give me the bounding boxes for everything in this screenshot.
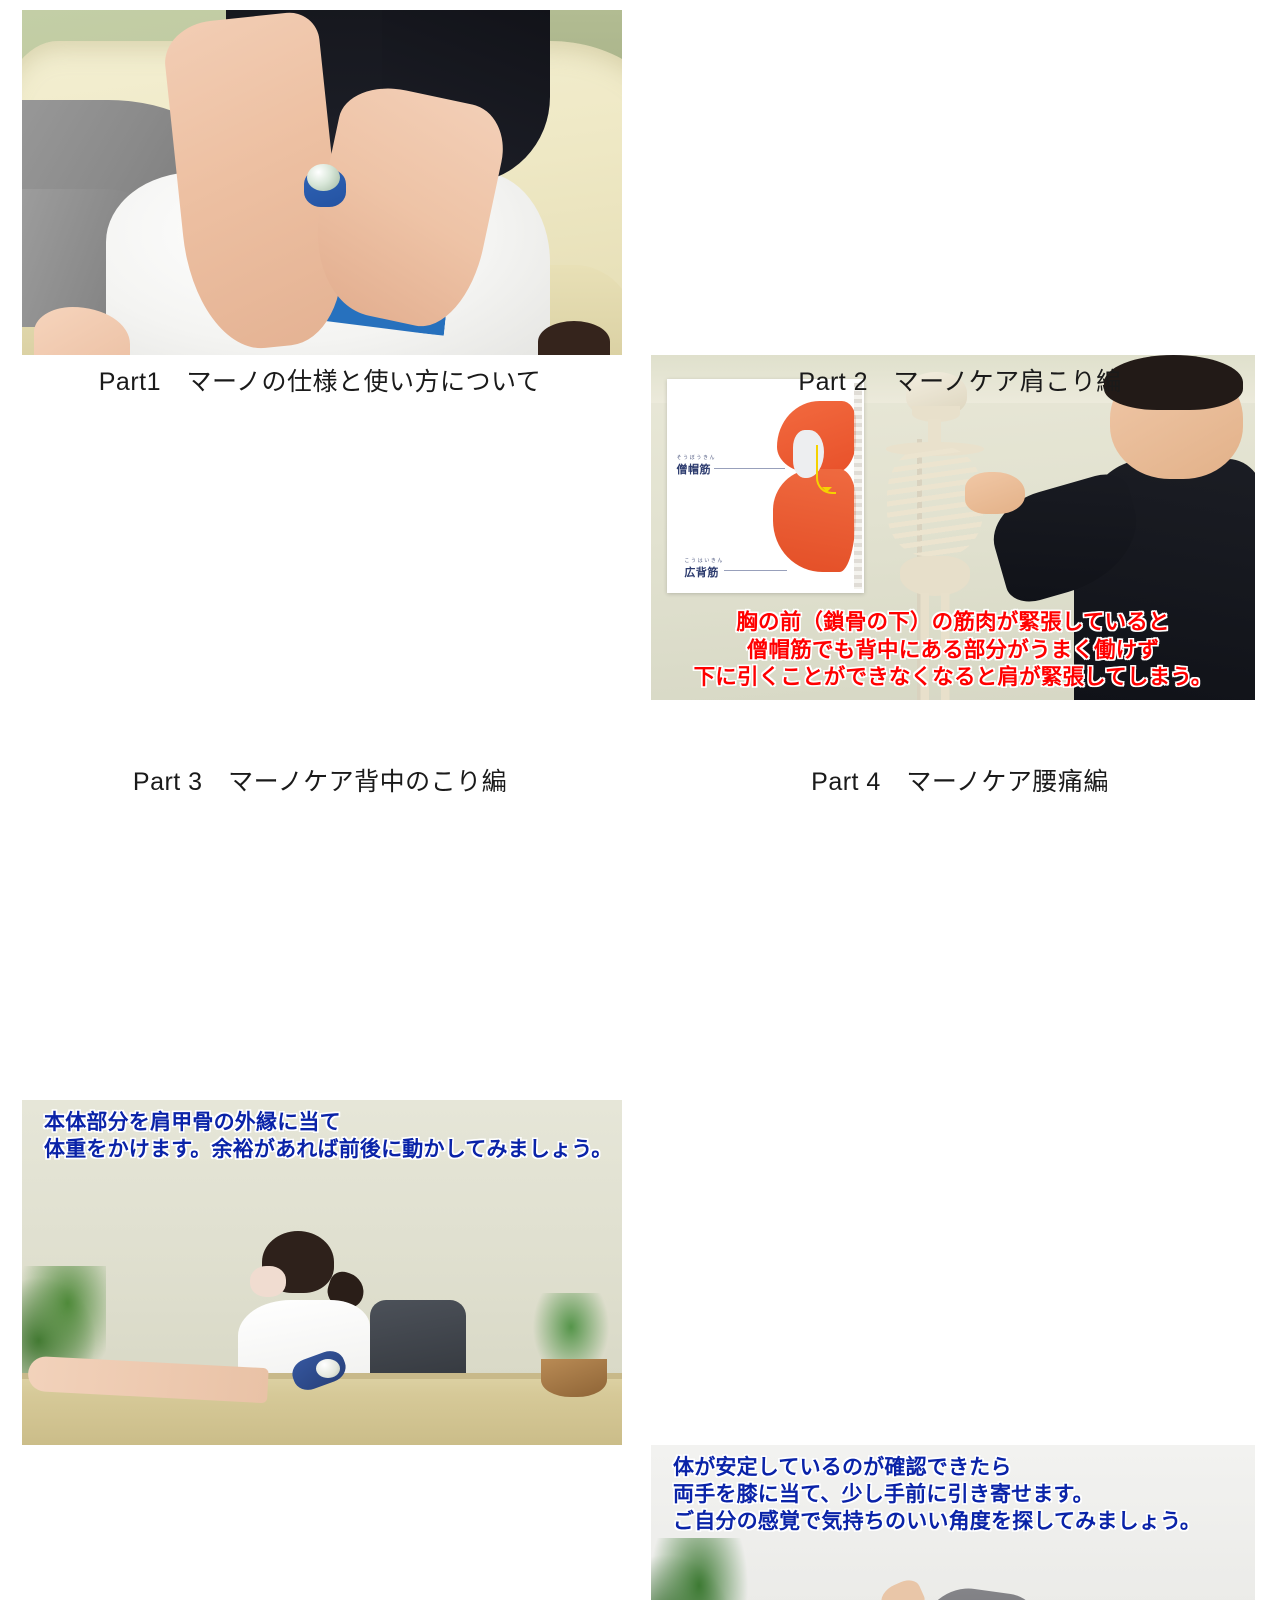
presenter-hand bbox=[965, 472, 1025, 513]
caption-part3: Part 3 マーノケア背中のこり編 bbox=[0, 762, 640, 798]
plant-pot-right bbox=[541, 1359, 607, 1397]
video-thumbnail-part4[interactable]: 体が安定しているのが確認できたら 両手を膝に当て、少し手前に引き寄せます。 ご自… bbox=[651, 1445, 1255, 1600]
person-face-mask bbox=[250, 1266, 286, 1297]
caption-part1: Part1 マーノの仕様と使い方について bbox=[0, 362, 640, 398]
anatomy-label-latissimus: こうはいきん 広背筋 bbox=[684, 557, 724, 580]
latissimus-dorsi-illustration bbox=[773, 469, 856, 572]
furigana-latissimus: こうはいきん bbox=[684, 557, 724, 564]
mano-roller-ball bbox=[316, 1359, 340, 1378]
direction-arrow-icon bbox=[816, 445, 836, 494]
caption-part2: Part 2 マーノケア肩こり編 bbox=[640, 362, 1280, 398]
skeleton-model bbox=[862, 365, 1007, 700]
plant-left bbox=[651, 1538, 748, 1600]
spine-column-illustration bbox=[854, 383, 862, 588]
anatomy-chart: そうぼうきん 僧帽筋 こうはいきん 広背筋 bbox=[667, 379, 864, 593]
video-thumbnail-part2[interactable]: そうぼうきん 僧帽筋 こうはいきん 広背筋 胸の前（鎖骨の下）の筋肉が緊張してい… bbox=[651, 355, 1255, 700]
anatomy-label-trapezius: そうぼうきん 僧帽筋 bbox=[677, 454, 717, 477]
label-latissimus: 広背筋 bbox=[684, 564, 724, 580]
skeleton-legs bbox=[909, 593, 961, 700]
furigana-trapezius: そうぼうきん bbox=[677, 454, 717, 461]
skeleton-pelvis bbox=[900, 556, 970, 596]
leader-line-latissimus bbox=[724, 570, 787, 571]
thumbnail-grid: Part1 マーノの仕様と使い方について そうぼうきん bbox=[0, 0, 1280, 800]
label-trapezius: 僧帽筋 bbox=[677, 461, 717, 477]
leader-line-trapezius bbox=[714, 468, 785, 469]
video-thumbnail-part3[interactable]: 本体部分を肩甲骨の外縁に当て 体重をかけます。余裕があれば前後に動かしてみましょ… bbox=[22, 1100, 622, 1445]
mano-roller-ball bbox=[307, 164, 340, 192]
caption-part4: Part 4 マーノケア腰痛編 bbox=[640, 762, 1280, 798]
video-thumbnail-part1[interactable] bbox=[22, 10, 622, 355]
